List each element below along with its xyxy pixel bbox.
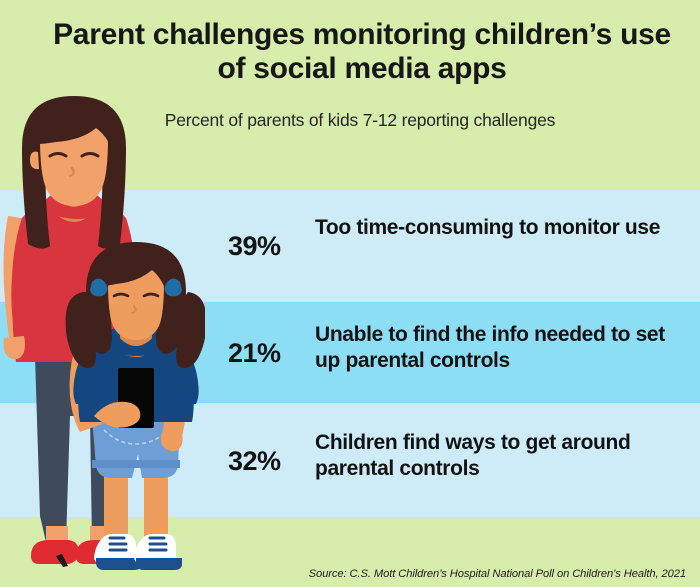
- stat-label-2: Unable to find the info needed to set up…: [315, 322, 685, 373]
- stat-percent-2: 21%: [228, 338, 308, 369]
- source-citation: Source: C.S. Mott Children’s Hospital Na…: [309, 568, 686, 580]
- infographic-root: Parent challenges monitoring children’s …: [0, 0, 700, 587]
- mother-hand-left: [4, 336, 25, 359]
- stat-label-1: Too time-consuming to monitor use: [315, 215, 685, 241]
- daughter-shoes: [94, 534, 182, 570]
- page-title: Parent challenges monitoring children’s …: [38, 18, 686, 86]
- stat-percent-3: 32%: [228, 446, 308, 477]
- illustration-mother-and-daughter: [0, 86, 205, 587]
- stat-label-3: Children find ways to get around parenta…: [315, 430, 685, 481]
- daughter-figure: [66, 242, 205, 570]
- stat-percent-1: 39%: [228, 231, 308, 262]
- daughter-shorts-cuff: [92, 460, 180, 468]
